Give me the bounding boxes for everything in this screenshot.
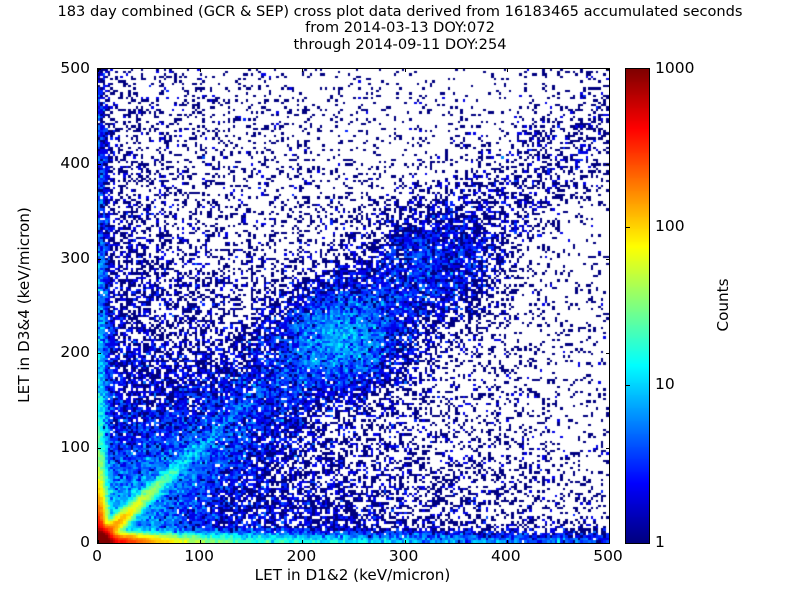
figure-canvas: 183 day combined (GCR & SEP) cross plot … [0,0,800,600]
y-tick-label: 300 [90,249,120,267]
x-tick-mark [200,540,201,544]
x-tick-label: 100 [184,547,214,565]
density-heatmap [98,69,609,543]
y-tick-mark [606,353,610,354]
x-tick-label: 400 [491,547,521,565]
colorbar-title: Counts [714,278,732,331]
x-tick-mark [405,68,406,72]
y-tick-mark [606,69,610,70]
y-tick-mark [606,448,610,449]
x-tick-mark [302,540,303,544]
x-tick-mark [302,68,303,72]
y-tick-label: 200 [90,343,120,361]
colorbar-tick-label: 1000 [655,59,694,77]
title-line-2: from 2014-03-13 DOY:072 [0,20,800,36]
y-tick-label: 0 [90,533,100,551]
colorbar-tick-mark [625,385,630,386]
y-tick-mark [606,164,610,165]
x-tick-label: 200 [287,547,317,565]
colorbar-tick-label: 1 [655,533,665,551]
y-tick-label: 100 [90,438,120,456]
colorbar[interactable] [625,68,650,544]
colorbar-tick-label: 10 [655,375,675,393]
title-line-3: through 2014-09-11 DOY:254 [0,37,800,53]
y-tick-label: 400 [90,154,120,172]
x-tick-mark [200,68,201,72]
y-tick-mark [606,543,610,544]
colorbar-gradient [626,69,649,543]
plot-area[interactable] [97,68,610,544]
x-axis-label: LET in D1&2 (keV/micron) [97,566,608,584]
x-tick-label: 500 [593,547,623,565]
x-tick-mark [405,540,406,544]
colorbar-tick-mark [625,227,630,228]
y-tick-label: 500 [90,59,120,77]
x-tick-mark [507,68,508,72]
colorbar-tick-label: 100 [655,217,685,235]
x-tick-label: 300 [389,547,419,565]
title-line-1: 183 day combined (GCR & SEP) cross plot … [0,4,800,20]
chart-title: 183 day combined (GCR & SEP) cross plot … [0,4,800,53]
x-tick-mark [507,540,508,544]
y-tick-mark [606,259,610,260]
y-axis-label: LET in D3&4 (keV/micron) [15,207,33,403]
